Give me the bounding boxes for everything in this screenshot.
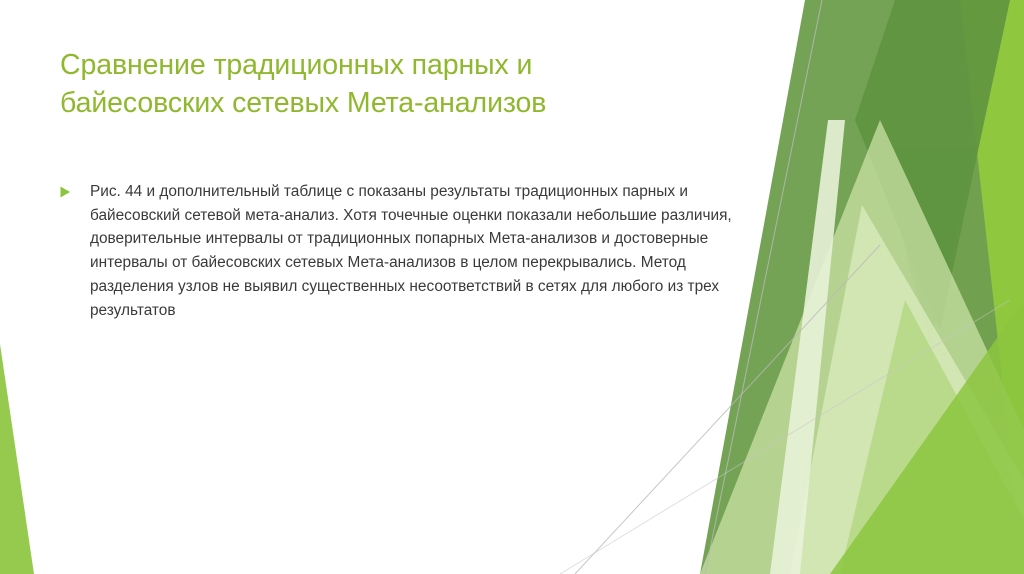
triangle-right-bullet-icon: [60, 180, 90, 198]
decoration-shape-right-bright-2: [905, 0, 1024, 574]
slide-canvas: Сравнение традиционных парных и байесовс…: [0, 0, 1024, 574]
content-placeholder: Рис. 44 и дополнительный таблице с показ…: [60, 180, 772, 322]
decoration-hairline-3: [560, 300, 1010, 574]
decoration-shape-dark-taper: [880, 150, 975, 345]
decoration-shape-bottom-left: [0, 344, 34, 574]
decoration-shape-light-overlay: [840, 300, 1024, 574]
decoration-shape-bottom-right-bright: [830, 300, 1024, 574]
list-item: Рис. 44 и дополнительный таблице с показ…: [60, 180, 772, 322]
decoration-shape-pale-fan-2: [790, 205, 1024, 574]
title-placeholder: Сравнение традиционных парных и байесовс…: [60, 47, 700, 123]
decoration-shape-pale-sliver: [770, 120, 845, 574]
decoration-shape-dark-wedge: [855, 0, 1010, 330]
list-item-text: Рис. 44 и дополнительный таблице с показ…: [90, 180, 772, 322]
page-title: Сравнение традиционных парных и байесовс…: [60, 47, 700, 123]
decoration-shape-right-bright: [860, 0, 1024, 574]
